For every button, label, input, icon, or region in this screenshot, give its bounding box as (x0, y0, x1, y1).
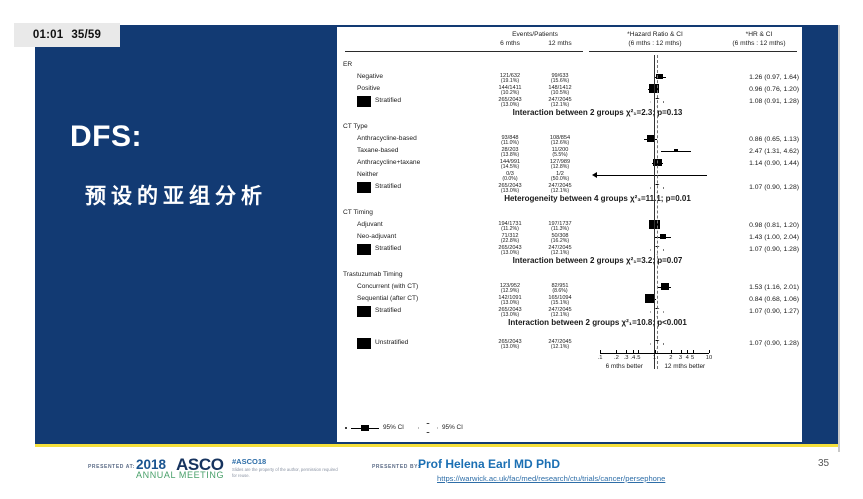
header-rule-left (345, 51, 583, 52)
row-hazard-ratio-value: 1.26 (0.97, 1.64) (715, 74, 799, 82)
row-p6-percent: (13.0%) (487, 301, 533, 307)
x-axis-tick (681, 350, 682, 353)
x-axis-tick (709, 350, 710, 353)
plot-legend: 95% CI 95% CI (345, 423, 463, 433)
row-hazard-ratio-value: 1.08 (0.91, 1.28) (715, 98, 799, 106)
row-hazard-ratio-value: 2.47 (1.31, 4.62) (715, 148, 799, 156)
x-axis-tick-label: 1 (648, 355, 662, 362)
row-p12-percent: (16.2%) (537, 239, 583, 245)
x-axis-tick-label: 10 (702, 355, 716, 362)
point-estimate-square-icon (661, 283, 669, 290)
x-axis-tick-label: .1 (593, 355, 607, 362)
point-estimate-square-icon (674, 149, 678, 152)
axis-right-label: 12 mths better (655, 363, 716, 370)
stratified-marker-icon (357, 338, 371, 349)
axis-left-label: 6 mths better (594, 363, 655, 370)
stratified-marker-icon (357, 182, 371, 193)
row-hazard-ratio-value: 0.86 (0.65, 1.13) (715, 136, 799, 144)
row-p12-percent: (15.1%) (537, 301, 583, 307)
row-label: Unstratified (375, 339, 408, 347)
slide-right-edge (838, 25, 840, 465)
point-estimate-square-icon (656, 74, 663, 80)
row-label: Neither (357, 171, 378, 179)
row-hazard-ratio-value: 0.96 (0.76, 1.20) (715, 86, 799, 94)
row-label: Negative (357, 73, 383, 81)
row-label: Stratified (375, 183, 401, 191)
header-12mths: 12 mths (537, 40, 583, 48)
row-hazard-ratio-value: 1.07 (0.90, 1.28) (715, 184, 799, 192)
off-scale-arrow (596, 175, 707, 176)
footer-disclaimer: Slides are the property of the author, p… (232, 467, 342, 479)
row-label: Stratified (375, 307, 401, 315)
row-label: Anthracycline-based (357, 135, 417, 143)
x-axis-tick (616, 350, 617, 353)
row-p6-percent: (12.9%) (487, 289, 533, 295)
row-hazard-ratio-value: 1.07 (0.90, 1.27) (715, 308, 799, 316)
x-axis-tick (655, 350, 656, 353)
x-axis-tick (626, 350, 627, 353)
x-axis-tick-label: .5 (631, 355, 645, 362)
header-6mths: 6 mths (487, 40, 533, 48)
row-label: Stratified (375, 245, 401, 253)
point-estimate-square-icon (660, 234, 666, 239)
presentation-timer: 01:01 35/59 (14, 23, 120, 47)
x-axis-tick-label: 5 (686, 355, 700, 362)
row-p12-percent: (12.6%) (537, 141, 583, 147)
row-p6-percent: (13.8%) (487, 153, 533, 159)
row-p12-percent: (11.3%) (537, 227, 583, 233)
accent-divider (35, 444, 840, 447)
row-hazard-ratio-value: 1.07 (0.90, 1.28) (715, 246, 799, 254)
slide-footer: PRESENTED AT: 2018 ASCO ANNUAL MEETING #… (0, 452, 863, 499)
forest-plot-area: .1.2.3.4.512345106 mths better12 mths be… (592, 27, 717, 442)
arrow-head-icon (592, 172, 597, 178)
group-header-er: ER (343, 61, 352, 69)
group-header-ct-type: CT Type (343, 123, 368, 131)
row-label: Positive (357, 85, 380, 93)
pooled-reference-dashed-line (657, 55, 658, 369)
row-p12-percent: (15.6%) (537, 79, 583, 85)
footer-trial-url[interactable]: https://warwick.ac.uk/fac/med/research/c… (437, 474, 665, 483)
header-events-patients: Events/Patients (487, 31, 583, 39)
timer-progress: 35/59 (71, 29, 101, 41)
group-header-ct-timing: CT Timing (343, 209, 373, 217)
row-hazard-ratio-value: 0.84 (0.68, 1.06) (715, 296, 799, 304)
x-axis-tick (693, 350, 694, 353)
row-hazard-ratio-value: 1.07 (0.90, 1.28) (715, 340, 799, 348)
row-label: Anthracycline+taxane (357, 159, 420, 167)
row-label: Adjuvant (357, 221, 383, 229)
page-subtitle: 预设的亚组分析 (85, 180, 267, 210)
header-hr-ci: *HR & CI (719, 31, 799, 39)
x-axis-tick (600, 350, 601, 353)
stratified-marker-icon (357, 244, 371, 255)
x-axis-tick (687, 350, 688, 353)
footer-presented-at-label: PRESENTED AT: (88, 464, 135, 470)
row-label: Stratified (375, 97, 401, 105)
null-reference-line (654, 55, 655, 369)
forest-plot-panel: Events/Patients 6 mths 12 mths *Hazard R… (337, 27, 802, 442)
footer-page-number: 35 (818, 458, 829, 469)
row-p6-percent: (11.2%) (487, 227, 533, 233)
x-axis-tick (633, 350, 634, 353)
row-label: Neo-adjuvant (357, 233, 396, 241)
legend-square-label: 95% CI (383, 424, 404, 431)
row-p6-percent: (11.0%) (487, 141, 533, 147)
row-p6-percent: (10.2%) (487, 91, 533, 97)
row-p6-percent: (22.8%) (487, 239, 533, 245)
row-hazard-ratio-value: 1.14 (0.90, 1.44) (715, 160, 799, 168)
x-axis-tick (638, 350, 639, 353)
stratified-marker-icon (357, 306, 371, 317)
row-p6-percent: (0.0%) (487, 177, 533, 183)
row-label: Concurrent (with CT) (357, 283, 418, 291)
timer-elapsed: 01:01 (33, 29, 63, 41)
row-hazard-ratio-value: 1.53 (1.16, 2.01) (715, 284, 799, 292)
row-hazard-ratio-value: 1.43 (1.00, 2.04) (715, 234, 799, 242)
row-p12-percent: (12.8%) (537, 165, 583, 171)
row-p12-percent: (5.5%) (537, 153, 583, 159)
footer-presented-by-label: PRESENTED BY: (372, 464, 420, 470)
row-p12-percent: (50.0%) (537, 177, 583, 183)
row-p12-percent: (12.1%) (537, 345, 583, 351)
row-label: Sequential (after CT) (357, 295, 418, 303)
group-header-trastuzumab-timing: Trastuzumab Timing (343, 271, 403, 279)
row-p6-percent: (19.1%) (487, 79, 533, 85)
slide-root: 01:01 35/59 DFS: 预设的亚组分析 Events/Patients… (0, 0, 863, 499)
legend-diamond-label: 95% CI (442, 424, 463, 431)
footer-presenter-name: Prof Helena Earl MD PhD (418, 457, 560, 471)
legend-dot-icon (345, 427, 347, 429)
footer-hashtag: #ASCO18 (232, 457, 266, 466)
row-p6-percent: (14.5%) (487, 165, 533, 171)
legend-square-ci-icon (351, 424, 379, 432)
footer-asco-subtitle: ANNUAL MEETING (136, 470, 224, 480)
row-hazard-ratio-value: 0.98 (0.81, 1.20) (715, 222, 799, 230)
row-label: Taxane-based (357, 147, 398, 155)
row-p12-percent: (10.5%) (537, 91, 583, 97)
row-p12-percent: (8.6%) (537, 289, 583, 295)
legend-diamond-ci-icon (418, 423, 438, 433)
x-axis-line (600, 353, 709, 354)
page-title: DFS: (70, 120, 142, 154)
x-axis-tick (671, 350, 672, 353)
header-hr-ci-sub: (6 mths : 12 mths) (719, 40, 799, 48)
stratified-marker-icon (357, 96, 371, 107)
row-p6-percent: (13.0%) (487, 345, 533, 351)
